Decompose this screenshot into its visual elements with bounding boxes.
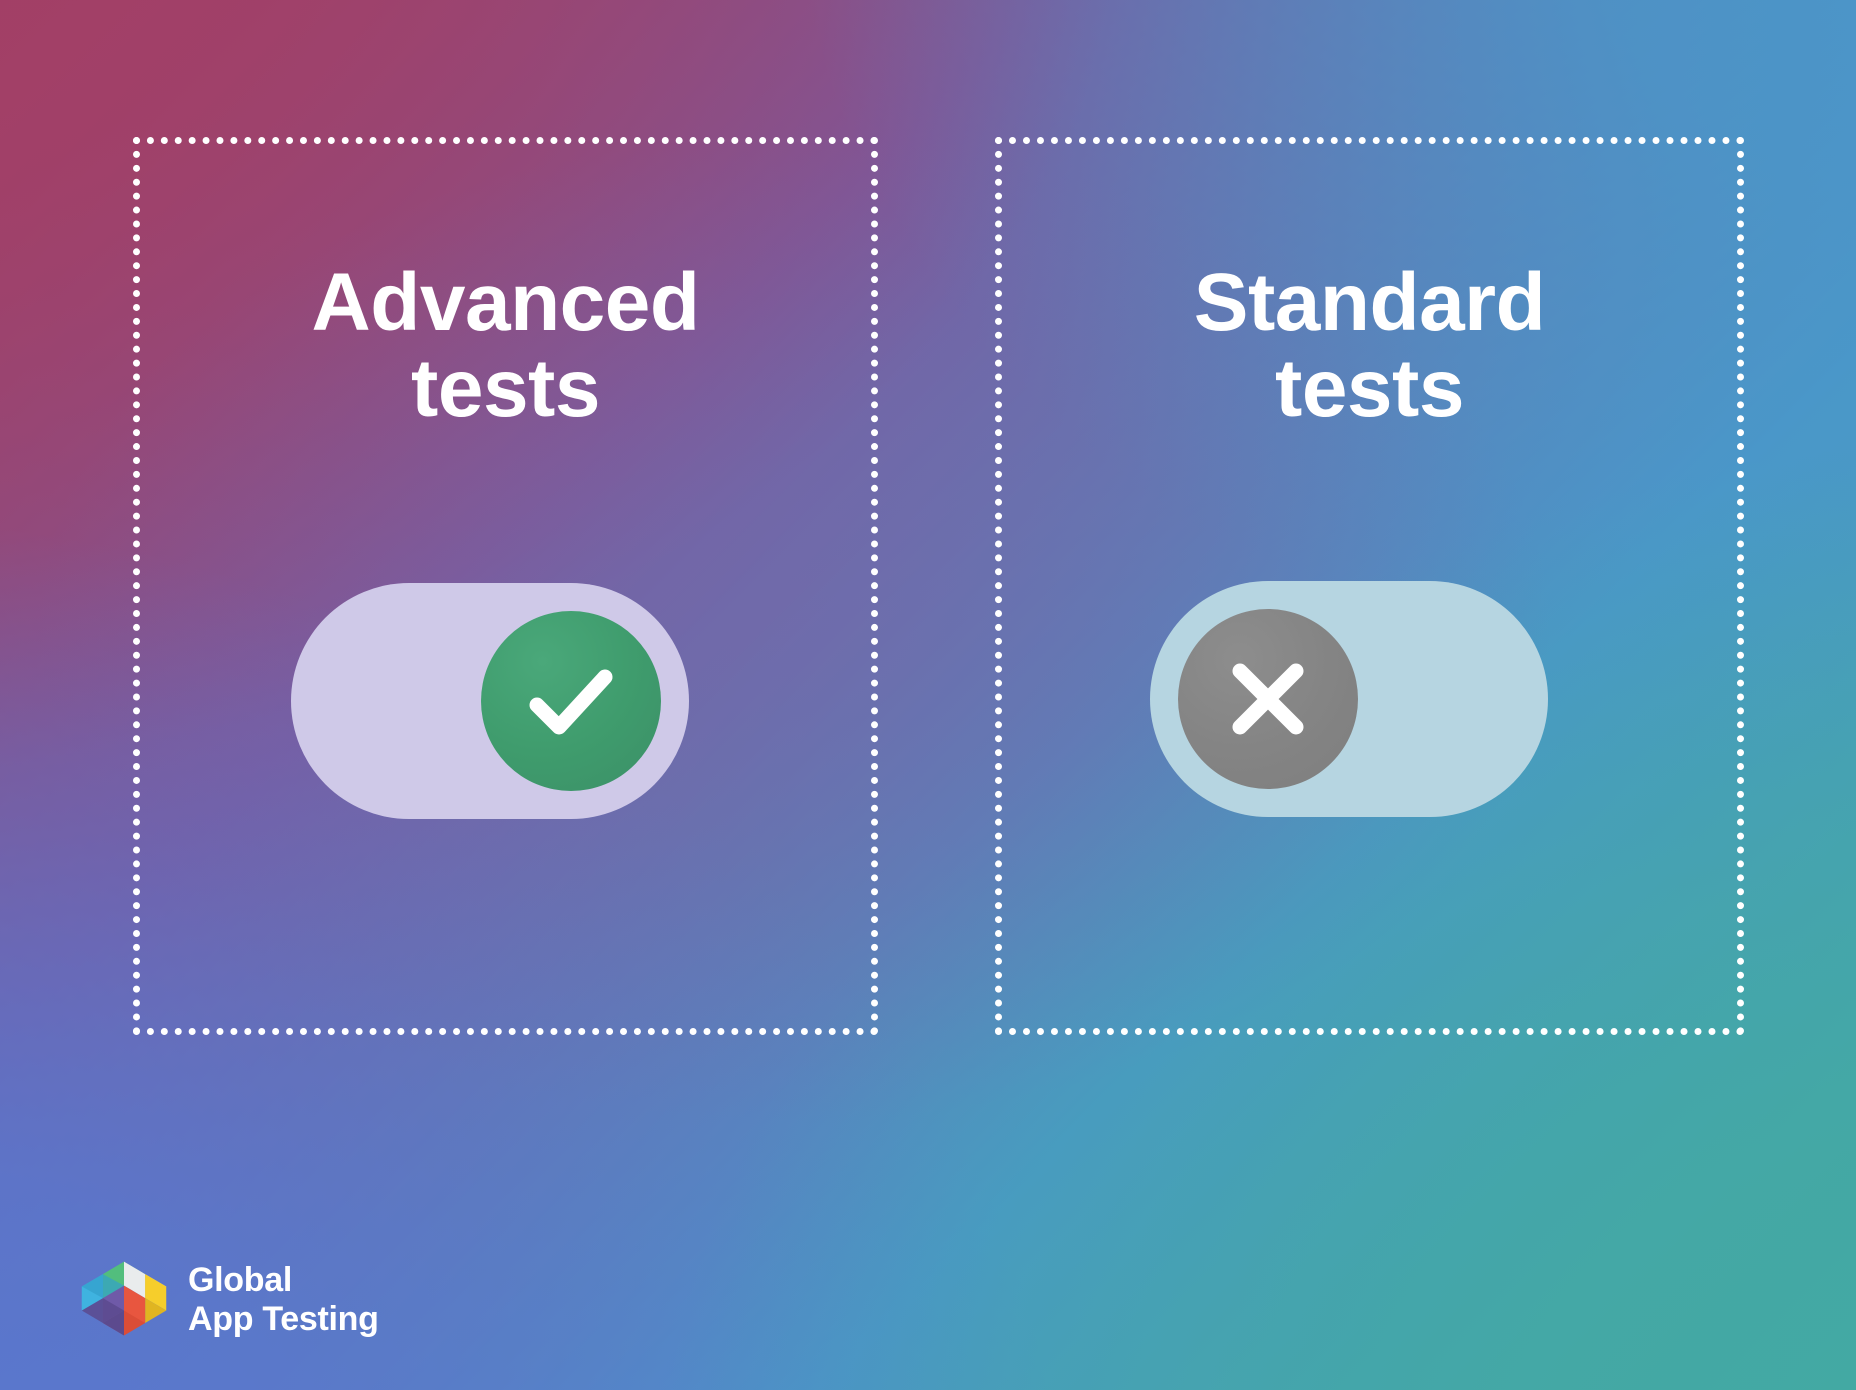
card-advanced-title: Advanced tests [312, 260, 700, 432]
toggle-knob-enabled[interactable] [481, 611, 661, 791]
brand-logo: Global App Testing [76, 1252, 379, 1348]
card-standard-tests: Standard tests [995, 137, 1744, 1035]
card-standard-title: Standard tests [1194, 260, 1545, 432]
toggle-track-on[interactable] [291, 583, 689, 819]
hexagon-cube-logo-icon [76, 1252, 172, 1348]
card-advanced-tests: Advanced tests [133, 137, 878, 1035]
toggle-advanced-tests[interactable] [291, 583, 689, 819]
canvas: Advanced tests Standard tests [0, 0, 1856, 1390]
brand-line-2: App Testing [188, 1300, 379, 1339]
brand-line-1: Global [188, 1261, 379, 1300]
close-icon [1212, 643, 1324, 755]
check-icon [515, 645, 627, 757]
brand-wordmark: Global App Testing [188, 1261, 379, 1340]
toggle-standard-tests[interactable] [1150, 581, 1548, 817]
toggle-track-off[interactable] [1150, 581, 1548, 817]
toggle-knob-disabled[interactable] [1178, 609, 1358, 789]
